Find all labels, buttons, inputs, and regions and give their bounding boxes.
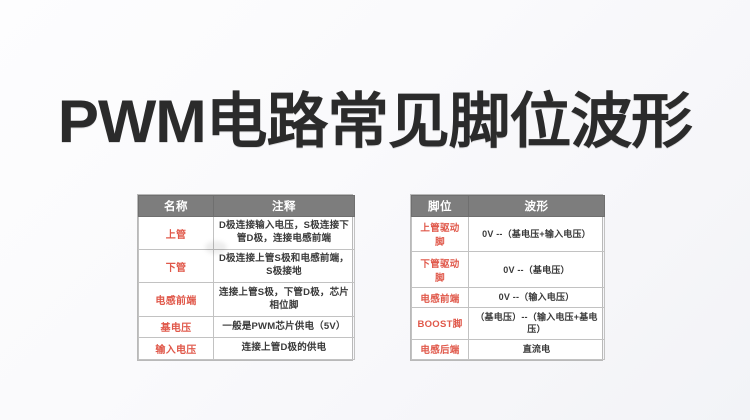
table-header-row: 名称 注释 (139, 196, 355, 217)
row-value: 连接上管S极，下管D极，芯片相位脚 (214, 283, 355, 316)
row-value: 连接上管D极的供电 (214, 338, 355, 360)
row-value: 0V --（基电压+输入电压） (469, 217, 605, 252)
table-row: 基电压 一般是PWM芯片供电（5V） (139, 316, 355, 338)
table-row: BOOST脚 （基电压）--（输入电压+基电压） (412, 308, 605, 339)
row-key: 下管驱动脚 (412, 252, 469, 287)
slide-canvas: PWM电路常见脚位波形 名称 注释 上管 D极连接输入电压，S极连接下管D极，连… (0, 0, 750, 420)
table-row: 电感后端 直流电 (412, 339, 605, 359)
row-value: （基电压）--（输入电压+基电压） (469, 308, 605, 339)
column-header-waveform: 波形 (469, 196, 605, 217)
row-value: 0V --（基电压） (469, 252, 605, 287)
column-header-note: 注释 (214, 196, 355, 217)
column-header-pin: 脚位 (412, 196, 469, 217)
row-value: 0V --（输入电压） (469, 287, 605, 307)
table-header-row: 脚位 波形 (412, 196, 605, 217)
row-key: 电感前端 (412, 287, 469, 307)
row-value: D极连接上管S极和电感前端，S极接地 (214, 250, 355, 283)
table-row: 下管驱动脚 0V --（基电压） (412, 252, 605, 287)
row-key: 上管 (139, 217, 214, 250)
row-value: D极连接输入电压，S极连接下管D极，连接电感前端 (214, 217, 355, 250)
table-row: 上管 D极连接输入电压，S极连接下管D极，连接电感前端 (139, 217, 355, 250)
pin-waveform-table: 脚位 波形 上管驱动脚 0V --（基电压+输入电压） 下管驱动脚 0V --（… (410, 194, 603, 361)
row-key: 电感后端 (412, 339, 469, 359)
row-key: 输入电压 (139, 338, 214, 360)
row-key: 基电压 (139, 316, 214, 338)
row-key: BOOST脚 (412, 308, 469, 339)
table-row: 电感前端 连接上管S极，下管D极，芯片相位脚 (139, 283, 355, 316)
table-row: 上管驱动脚 0V --（基电压+输入电压） (412, 217, 605, 252)
row-key: 下管 (139, 250, 214, 283)
row-value: 直流电 (469, 339, 605, 359)
column-header-name: 名称 (139, 196, 214, 217)
page-title: PWM电路常见脚位波形 (58, 92, 692, 152)
row-key: 上管驱动脚 (412, 217, 469, 252)
pin-description-table: 名称 注释 上管 D极连接输入电压，S极连接下管D极，连接电感前端 下管 D极连… (137, 194, 353, 361)
row-key: 电感前端 (139, 283, 214, 316)
page-title-container: PWM电路常见脚位波形 (0, 80, 750, 164)
table-row: 输入电压 连接上管D极的供电 (139, 338, 355, 360)
table-row: 电感前端 0V --（输入电压） (412, 287, 605, 307)
table-row: 下管 D极连接上管S极和电感前端，S极接地 (139, 250, 355, 283)
row-value: 一般是PWM芯片供电（5V） (214, 316, 355, 338)
